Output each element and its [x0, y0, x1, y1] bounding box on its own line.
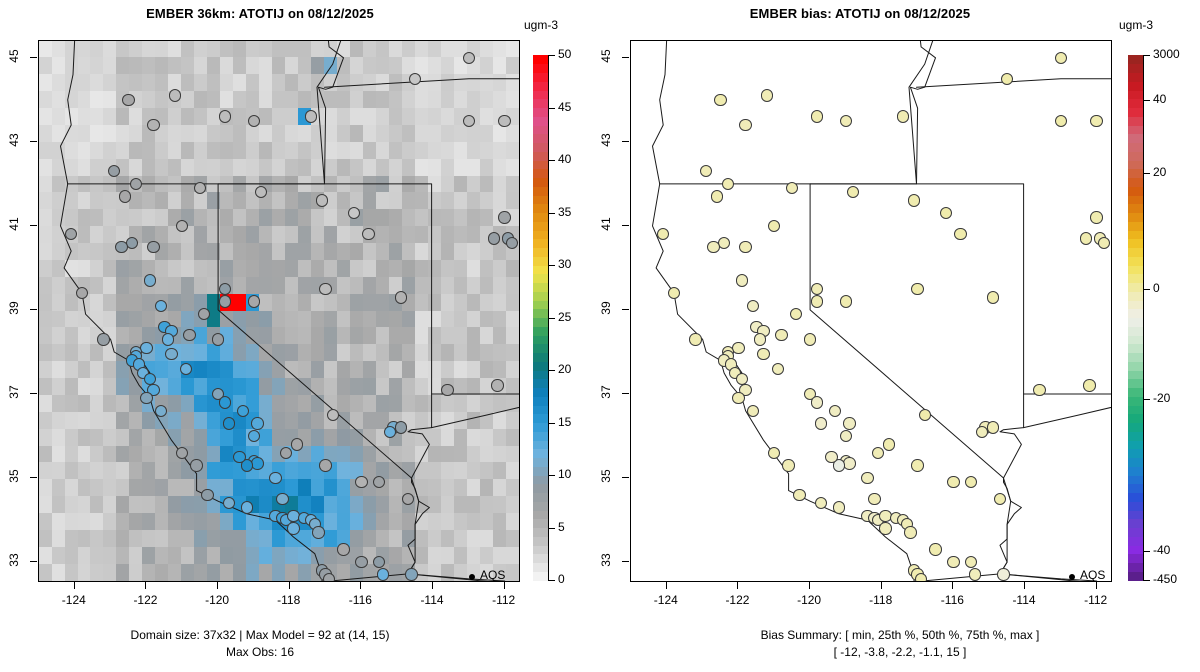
- colorbar-segment: [533, 125, 548, 134]
- colorbar-segment: [533, 396, 548, 405]
- colorbar-tick-label: 10: [558, 467, 571, 481]
- colorbar-tick-label: 40: [558, 152, 571, 166]
- observation-point: [248, 115, 260, 127]
- y-axis-tick: [30, 225, 37, 226]
- left-footer-line1: Domain size: 37x32 | Max Model = 92 at (…: [0, 628, 520, 642]
- x-axis-label: -122: [711, 593, 763, 607]
- y-axis-label: 45: [599, 44, 613, 68]
- bias-point: [804, 333, 816, 345]
- bias-point: [722, 178, 734, 190]
- colorbar-segment: [533, 230, 548, 239]
- observation-point: [463, 115, 475, 127]
- bias-point: [1033, 384, 1045, 396]
- colorbar-tick-label: 40: [1153, 92, 1166, 106]
- observation-point: [140, 342, 152, 354]
- observation-point: [355, 556, 367, 568]
- colorbar-segment: [1128, 396, 1143, 405]
- x-axis-label: -114: [406, 593, 458, 607]
- colorbar-segment: [533, 195, 548, 204]
- bias-point: [947, 476, 959, 488]
- x-axis-tick: [666, 582, 667, 589]
- x-axis-tick: [289, 582, 290, 589]
- colorbar-segment: [1128, 204, 1143, 213]
- observation-point: [491, 379, 503, 391]
- bias-point: [911, 459, 923, 471]
- colorbar-tick-label: 30: [558, 257, 571, 271]
- observation-point: [327, 409, 339, 421]
- aqs-legend-dot-right: [1069, 574, 1075, 580]
- bias-point: [868, 493, 880, 505]
- colorbar-segment: [533, 178, 548, 187]
- observation-point: [130, 178, 142, 190]
- colorbar-segment: [1128, 458, 1143, 467]
- observation-point: [319, 459, 331, 471]
- x-axis-label: -118: [263, 593, 315, 607]
- colorbar-segment: [1128, 291, 1143, 300]
- colorbar-segment: [1128, 379, 1143, 388]
- colorbar-segment: [1128, 116, 1143, 125]
- colorbar-segment: [533, 440, 548, 449]
- x-axis-tick: [952, 582, 953, 589]
- observation-point: [223, 417, 235, 429]
- colorbar-segment: [1128, 169, 1143, 178]
- y-axis-tick: [622, 57, 629, 58]
- y-axis-tick: [30, 561, 37, 562]
- colorbar-tick-label: 5: [558, 520, 565, 534]
- aqs-legend-label-left: AQS: [480, 568, 505, 582]
- colorbar-strip-left: [533, 55, 548, 580]
- colorbar-segment: [533, 265, 548, 274]
- bias-point: [915, 573, 927, 582]
- colorbar-segment: [533, 143, 548, 152]
- left-panel-title: EMBER 36km: ATOTIJ on 08/12/2025: [0, 6, 520, 21]
- colorbar-segment: [533, 186, 548, 195]
- observation-point: [395, 421, 407, 433]
- bias-point: [811, 396, 823, 408]
- bias-point: [929, 543, 941, 555]
- right-footer-line1: Bias Summary: [ min, 25th %, 50th %, 75t…: [690, 628, 1110, 642]
- colorbar-segment: [1128, 475, 1143, 484]
- panel-bias: EMBER bias: ATOTIJ on 08/12/2025 AQS 454…: [600, 0, 1200, 672]
- colorbar-segment: [1128, 431, 1143, 440]
- colorbar-segment: [533, 353, 548, 362]
- colorbar-segment: [1128, 64, 1143, 73]
- bias-point: [843, 457, 855, 469]
- y-axis-label: 37: [7, 380, 21, 404]
- y-axis-tick: [622, 561, 629, 562]
- colorbar-segment: [1128, 213, 1143, 222]
- colorbar-segment: [1128, 536, 1143, 545]
- colorbar-segment: [1128, 248, 1143, 257]
- colorbar-segment: [1128, 501, 1143, 510]
- boundary-line: [408, 478, 505, 581]
- y-axis-tick: [622, 309, 629, 310]
- observation-point: [147, 241, 159, 253]
- y-axis-label: 43: [7, 128, 21, 152]
- x-axis-tick: [74, 582, 75, 589]
- colorbar-tick: [1143, 55, 1150, 56]
- bias-point: [1055, 115, 1067, 127]
- observation-point: [212, 333, 224, 345]
- colorbar-tick: [1143, 100, 1150, 101]
- colorbar-tick-label: -450: [1153, 572, 1177, 586]
- colorbar-segment: [1128, 344, 1143, 353]
- colorbar-segment: [533, 379, 548, 388]
- colorbar-segment: [533, 458, 548, 467]
- y-axis-tick: [622, 141, 629, 142]
- colorbar-segment: [1128, 493, 1143, 502]
- observation-point: [155, 405, 167, 417]
- x-axis-tick: [217, 582, 218, 589]
- colorbar-segment: [1128, 160, 1143, 169]
- bias-point: [911, 283, 923, 295]
- colorbar-segment: [533, 536, 548, 545]
- panel-concentration: EMBER 36km: ATOTIJ on 08/12/2025 AQS 454…: [0, 0, 600, 672]
- colorbar-tick: [548, 528, 555, 529]
- colorbar-segment: [533, 335, 548, 344]
- right-footer-line2: [ -12, -3.8, -2.2, -1.1, 15 ]: [690, 645, 1110, 659]
- bias-point: [747, 300, 759, 312]
- colorbar-segment: [533, 414, 548, 423]
- observation-point: [190, 459, 202, 471]
- y-axis-tick: [30, 57, 37, 58]
- left-map-plot-area[interactable]: AQS: [38, 40, 520, 582]
- colorbar-segment: [1128, 554, 1143, 563]
- colorbar-segment: [533, 169, 548, 178]
- bias-point: [840, 115, 852, 127]
- colorbar-segment: [533, 116, 548, 125]
- colorbar-segment: [1128, 178, 1143, 187]
- bias-point: [754, 333, 766, 345]
- bias-point: [739, 119, 751, 131]
- bias-point: [1090, 211, 1102, 223]
- colorbar-segment: [533, 361, 548, 370]
- y-axis-label: 45: [7, 44, 21, 68]
- bias-point: [689, 333, 701, 345]
- y-axis-label: 33: [7, 548, 21, 572]
- colorbar-segment: [533, 563, 548, 572]
- y-axis-tick: [30, 393, 37, 394]
- boundary-line: [317, 40, 344, 184]
- bias-point: [919, 409, 931, 421]
- y-axis-tick: [622, 393, 629, 394]
- colorbar-segment: [533, 81, 548, 90]
- x-axis-tick: [881, 582, 882, 589]
- colorbar-segment: [533, 405, 548, 414]
- colorbar-segment: [533, 449, 548, 458]
- colorbar-tick: [548, 265, 555, 266]
- colorbar-segment: [1128, 134, 1143, 143]
- bias-point: [815, 417, 827, 429]
- colorbar-tick-label: 0: [558, 572, 565, 586]
- colorbar-axis-right: [1143, 55, 1144, 580]
- observation-point: [183, 329, 195, 341]
- colorbar-segment: [1128, 440, 1143, 449]
- x-axis-label: -120: [783, 593, 835, 607]
- observation-point: [463, 52, 475, 64]
- bias-point: [772, 363, 784, 375]
- colorbar-tick-label: -20: [1153, 391, 1170, 405]
- colorbar-segment: [533, 571, 548, 580]
- bias-point: [747, 405, 759, 417]
- colorbar-tick: [548, 213, 555, 214]
- bias-point: [736, 274, 748, 286]
- observation-point: [506, 237, 518, 249]
- observation-point: [441, 384, 453, 396]
- y-axis-label: 43: [599, 128, 613, 152]
- observation-point: [287, 522, 299, 534]
- colorbar-unit-left: ugm-3: [524, 18, 558, 32]
- x-axis-label: -112: [478, 593, 530, 607]
- bias-point: [732, 342, 744, 354]
- bias-point: [775, 329, 787, 341]
- colorbar-segment: [1128, 484, 1143, 493]
- colorbar-segment: [533, 300, 548, 309]
- colorbar-segment: [1128, 563, 1143, 572]
- observation-point: [405, 568, 417, 580]
- bias-point: [904, 526, 916, 538]
- colorbar-segment: [533, 501, 548, 510]
- observation-point: [269, 472, 281, 484]
- colorbar-segment: [1128, 151, 1143, 160]
- y-axis-tick: [30, 141, 37, 142]
- colorbar-segment: [533, 99, 548, 108]
- colorbar-tick: [1143, 551, 1150, 552]
- colorbar-segment: [533, 475, 548, 484]
- colorbar-segment: [533, 554, 548, 563]
- bias-point: [947, 556, 959, 568]
- observation-point: [251, 417, 263, 429]
- colorbar-tick: [548, 160, 555, 161]
- observation-point: [219, 396, 231, 408]
- colorbar-tick-label: 25: [558, 310, 571, 324]
- y-axis-label: 37: [599, 380, 613, 404]
- colorbar-segment: [533, 545, 548, 554]
- bias-point: [732, 392, 744, 404]
- colorbar-segment: [533, 344, 548, 353]
- bias-point: [861, 472, 873, 484]
- x-axis-tick: [145, 582, 146, 589]
- x-axis-label: -122: [119, 593, 171, 607]
- colorbar-segment: [1128, 90, 1143, 99]
- bias-point: [793, 489, 805, 501]
- x-axis-label: -114: [998, 593, 1050, 607]
- bias-point: [761, 89, 773, 101]
- colorbar-tick: [1143, 289, 1150, 290]
- colorbar-tick-label: 45: [558, 100, 571, 114]
- colorbar-segment: [1128, 55, 1143, 64]
- bias-point: [757, 348, 769, 360]
- colorbar-segment: [533, 484, 548, 493]
- observation-point: [169, 89, 181, 101]
- colorbar-segment: [1128, 519, 1143, 528]
- colorbar-segment: [1128, 318, 1143, 327]
- colorbar-tick: [548, 423, 555, 424]
- observation-point: [241, 501, 253, 513]
- y-axis-tick: [30, 309, 37, 310]
- boundary-line: [917, 79, 1113, 87]
- observation-point: [316, 194, 328, 206]
- observation-point: [115, 241, 127, 253]
- bias-point: [843, 417, 855, 429]
- bias-point: [997, 568, 1009, 580]
- colorbar-segment: [1128, 186, 1143, 195]
- figure-canvas: EMBER 36km: ATOTIJ on 08/12/2025 AQS 454…: [0, 0, 1200, 672]
- colorbar-tick: [548, 108, 555, 109]
- colorbar-segment: [533, 90, 548, 99]
- boundary-line: [909, 40, 936, 184]
- observation-point: [122, 94, 134, 106]
- colorbar-segment: [533, 466, 548, 475]
- bias-point: [1090, 115, 1102, 127]
- observation-point: [233, 451, 245, 463]
- bias-point: [1080, 232, 1092, 244]
- colorbar-tick: [548, 580, 555, 581]
- observation-point: [144, 274, 156, 286]
- x-axis-label: -116: [334, 593, 386, 607]
- colorbar-tick: [548, 370, 555, 371]
- y-axis-tick: [30, 477, 37, 478]
- colorbar-segment: [533, 134, 548, 143]
- x-axis-label: -118: [855, 593, 907, 607]
- colorbar-segment: [1128, 300, 1143, 309]
- observation-point: [251, 457, 263, 469]
- bias-point: [782, 459, 794, 471]
- bias-point: [1083, 379, 1095, 391]
- colorbar-segment: [533, 291, 548, 300]
- colorbar-segment: [533, 431, 548, 440]
- colorbar-segment: [533, 64, 548, 73]
- x-axis-tick: [432, 582, 433, 589]
- x-axis-label: -120: [191, 593, 243, 607]
- colorbar-segment: [1128, 274, 1143, 283]
- bias-point: [714, 94, 726, 106]
- aqs-legend-dot-left: [469, 574, 475, 580]
- colorbar-segment: [533, 239, 548, 248]
- colorbar-segment: [533, 256, 548, 265]
- colorbar-segment: [1128, 370, 1143, 379]
- colorbar-segment: [1128, 545, 1143, 554]
- observation-point: [248, 295, 260, 307]
- colorbar-tick-label: -40: [1153, 543, 1170, 557]
- colorbar-segment: [1128, 125, 1143, 134]
- x-axis-tick: [1024, 582, 1025, 589]
- colorbar-segment: [533, 55, 548, 64]
- colorbar-segment: [533, 309, 548, 318]
- y-axis-label: 41: [599, 212, 613, 236]
- colorbar-segment: [533, 213, 548, 222]
- colorbar-segment: [1128, 335, 1143, 344]
- colorbar-segment: [533, 283, 548, 292]
- colorbar-tick-label: 15: [558, 415, 571, 429]
- observation-point: [323, 573, 335, 582]
- observation-point: [140, 392, 152, 404]
- colorbar-segment: [533, 388, 548, 397]
- colorbar-segment: [1128, 73, 1143, 82]
- bias-point: [825, 451, 837, 463]
- observation-point: [147, 119, 159, 131]
- colorbar-segment: [533, 510, 548, 519]
- colorbar-tick: [1143, 399, 1150, 400]
- colorbar-segment: [533, 423, 548, 432]
- colorbar-segment: [533, 151, 548, 160]
- right-panel-title: EMBER bias: ATOTIJ on 08/12/2025: [600, 6, 1120, 21]
- colorbar-segment: [1128, 239, 1143, 248]
- colorbar-tick: [548, 318, 555, 319]
- colorbar-tick-label: 0: [1153, 281, 1160, 295]
- colorbar-tick: [1143, 580, 1150, 581]
- observation-point: [180, 363, 192, 375]
- bias-point: [1098, 237, 1110, 249]
- colorbar-segment: [1128, 265, 1143, 274]
- observation-point: [165, 348, 177, 360]
- observation-point: [201, 489, 213, 501]
- observation-point: [498, 115, 510, 127]
- colorbar-segment: [1128, 414, 1143, 423]
- y-axis-label: 35: [599, 464, 613, 488]
- colorbar-segment: [533, 370, 548, 379]
- y-axis-label: 33: [599, 548, 613, 572]
- bias-point: [879, 522, 891, 534]
- observation-point: [337, 543, 349, 555]
- colorbar-segment: [1128, 256, 1143, 265]
- observation-point: [488, 232, 500, 244]
- colorbar-tick-label: 3000: [1153, 47, 1180, 61]
- colorbar-unit-right: ugm-3: [1119, 18, 1153, 32]
- x-axis-tick: [360, 582, 361, 589]
- colorbar-segment: [1128, 195, 1143, 204]
- bias-point: [840, 295, 852, 307]
- boundary-line: [645, 40, 935, 184]
- colorbar-tick-label: 50: [558, 47, 571, 61]
- colorbar-segment: [533, 160, 548, 169]
- x-axis-tick: [1096, 582, 1097, 589]
- colorbar-segment: [533, 274, 548, 283]
- y-axis-label: 41: [7, 212, 21, 236]
- colorbar-tick: [548, 475, 555, 476]
- boundary-line: [432, 394, 520, 428]
- boundary-line: [53, 40, 343, 184]
- colorbar-segment: [1128, 528, 1143, 537]
- observation-point: [377, 568, 389, 580]
- colorbar-segment: [1128, 353, 1143, 362]
- observation-point: [291, 438, 303, 450]
- colorbar-segment: [533, 493, 548, 502]
- colorbar-segment: [533, 326, 548, 335]
- colorbar-segment: [1128, 108, 1143, 117]
- observation-point: [276, 493, 288, 505]
- boundary-line: [61, 40, 77, 184]
- left-footer-line2: Max Obs: 16: [0, 645, 520, 659]
- colorbar-segment: [1128, 99, 1143, 108]
- colorbar-tick-label: 20: [1153, 165, 1166, 179]
- observation-point: [319, 283, 331, 295]
- colorbar-segment: [1128, 510, 1143, 519]
- bias-point: [833, 501, 845, 513]
- colorbar-tick: [1143, 173, 1150, 174]
- observation-point: [155, 300, 167, 312]
- colorbar-segment: [1128, 283, 1143, 292]
- right-map-plot-area[interactable]: AQS: [630, 40, 1112, 582]
- colorbar-segment: [533, 108, 548, 117]
- observation-point: [355, 476, 367, 488]
- colorbar-segment: [1128, 81, 1143, 90]
- observation-point: [312, 526, 324, 538]
- boundary-line: [325, 79, 521, 87]
- colorbar-segment: [1128, 143, 1143, 152]
- y-axis-label: 39: [7, 296, 21, 320]
- bias-point: [711, 190, 723, 202]
